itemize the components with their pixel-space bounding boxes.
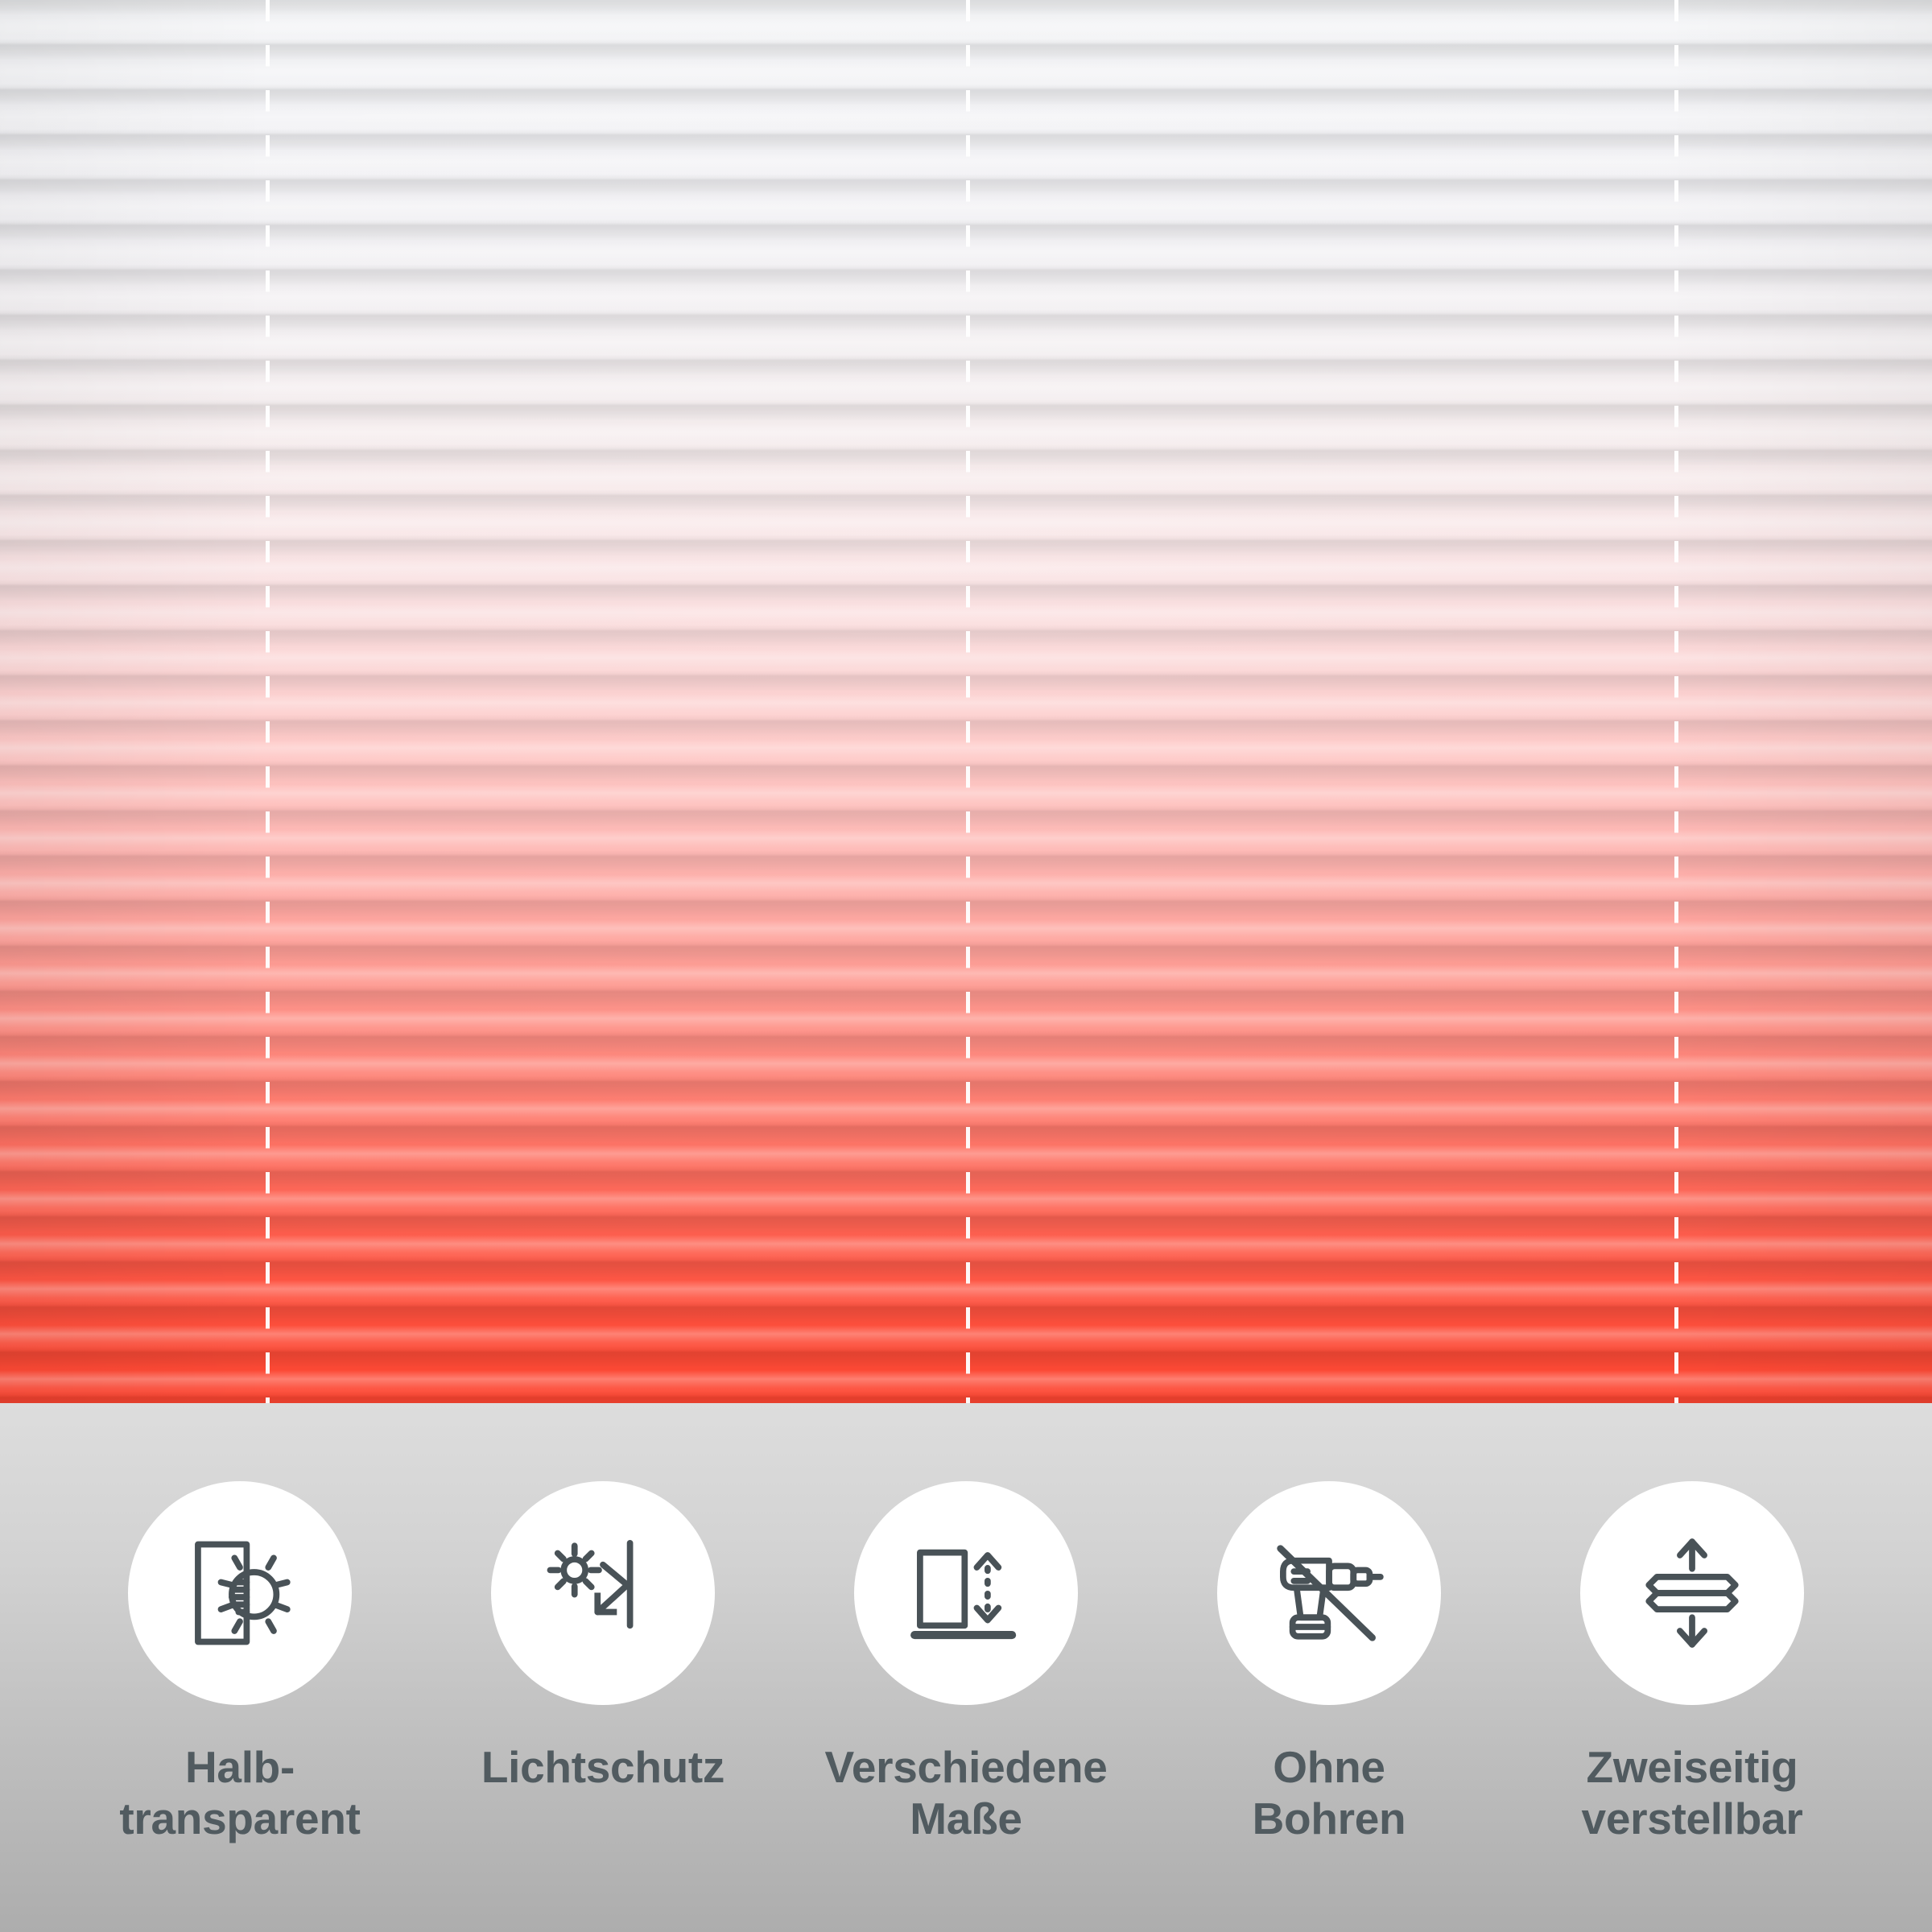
semi-transparent-badge: [128, 1481, 352, 1705]
feature-two-way-adjustable: Zweiseitig verstellbar: [1529, 1403, 1855, 1845]
feature-various-sizes: Verschiedene Maße: [803, 1403, 1129, 1845]
no-drilling-icon: [1261, 1525, 1397, 1661]
feature-light-protection: Lichtschutz: [440, 1403, 766, 1794]
feature-no-drilling: Ohne Bohren: [1166, 1403, 1492, 1845]
product-image: Halb- transparent: [0, 0, 1932, 1932]
feature-semi-transparent: Halb- transparent: [77, 1403, 402, 1845]
no-drilling-badge: [1217, 1481, 1441, 1705]
light-protection-icon: [535, 1525, 671, 1661]
various-sizes-icon: [898, 1525, 1034, 1661]
two-way-adjustable-icon: [1624, 1525, 1760, 1661]
blind-pleat-folds: [0, 0, 1932, 1403]
semi-transparent-icon: [172, 1525, 308, 1661]
feature-label: Ohne Bohren: [1253, 1742, 1406, 1845]
feature-label: Zweiseitig verstellbar: [1582, 1742, 1803, 1845]
feature-label: Lichtschutz: [481, 1742, 724, 1794]
feature-label: Halb- transparent: [119, 1742, 360, 1845]
feature-bar: Halb- transparent: [0, 1403, 1932, 1932]
pleated-blind-photo: [0, 0, 1932, 1403]
feature-label: Verschiedene Maße: [824, 1742, 1107, 1845]
two-way-adjustable-badge: [1580, 1481, 1804, 1705]
various-sizes-badge: [854, 1481, 1078, 1705]
light-protection-badge: [491, 1481, 715, 1705]
